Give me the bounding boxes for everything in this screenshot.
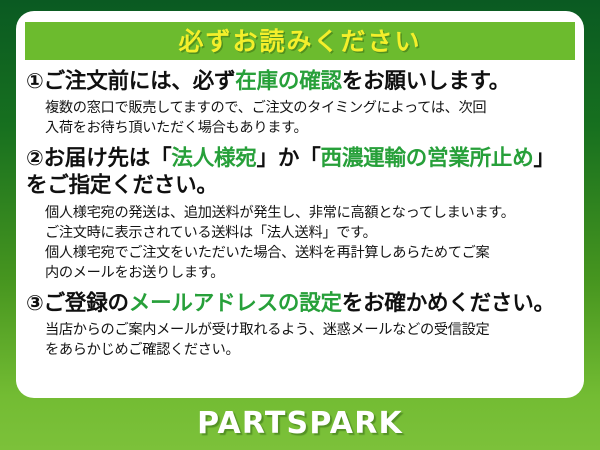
section-2-headline: ②お届け先は「法人様宛」か「西濃運輸の営業所止め」をご指定ください。 — [26, 145, 576, 199]
section-2-body: 個人様宅宛の発送は、追加送料が発生し、非常に高額となってしまいます。 ご注文時に… — [26, 203, 576, 284]
notice-card: 必ずお読みください ①ご注文前には、必ず在庫の確認をお願いします。 複数の窓口で… — [16, 11, 584, 398]
notice-title-bar: 必ずお読みください — [25, 22, 575, 60]
section-1-highlight: 在庫の確認 — [235, 69, 342, 94]
section-2-highlight-1: 法人様宛 — [171, 146, 256, 171]
section-3-headline-part-1: ご登録の — [44, 291, 129, 316]
section-2-body-line-4: 内のメールをお送りします。 — [45, 263, 576, 283]
section-1-number: ① — [26, 69, 44, 93]
notice-banner: 必ずお読みください ①ご注文前には、必ず在庫の確認をお願いします。 複数の窓口で… — [0, 0, 600, 450]
section-1-body-line-2: 入荷をお待ち頂いただく場合もあります。 — [45, 118, 576, 138]
section-2-headline-part-1: お届け先は「 — [44, 146, 172, 171]
section-2-headline-part-5: 」 — [534, 146, 555, 171]
section-1-headline: ①ご注文前には、必ず在庫の確認をお願いします。 — [26, 68, 576, 95]
notice-content: ①ご注文前には、必ず在庫の確認をお願いします。 複数の窓口で販売してますので、ご… — [16, 68, 584, 361]
section-3-headline-part-3: をお確かめください。 — [342, 291, 555, 316]
notice-section-3: ③ご登録のメールアドレスの設定をお確かめください。 当店からのご案内メールが受け… — [16, 290, 584, 360]
section-1-headline-part-3: をお願いします。 — [342, 69, 510, 94]
section-2-body-line-1: 個人様宅宛の発送は、追加送料が発生し、非常に高額となってしまいます。 — [45, 203, 576, 223]
section-3-body-line-2: をあらかじめご確認ください。 — [45, 340, 576, 360]
section-3-body-line-1: 当店からのご案内メールが受け取れるよう、迷惑メールなどの受信設定 — [45, 320, 576, 340]
section-2-headline-part-6: をご指定ください。 — [26, 173, 218, 198]
section-1-body: 複数の窓口で販売してますので、ご注文のタイミングによっては、次回 入荷をお待ち頂… — [26, 98, 576, 138]
section-2-highlight-2: 西濃運輸の営業所止め — [321, 146, 534, 171]
section-3-body: 当店からのご案内メールが受け取れるよう、迷惑メールなどの受信設定 をあらかじめご… — [26, 320, 576, 360]
section-2-number: ② — [26, 146, 44, 170]
section-2-body-line-3: 個人様宅宛でご注文をいただいた場合、送料を再計算しあらためてご案 — [45, 243, 576, 263]
notice-title: 必ずお読みください — [178, 29, 421, 54]
section-2-headline-part-3: 」か「 — [257, 146, 321, 171]
section-3-highlight: メールアドレスの設定 — [129, 291, 342, 316]
section-2-body-line-2: ご注文時に表示されている送料は「法人送料」です。 — [45, 223, 576, 243]
brand-footer: PARTSPARK — [0, 398, 600, 450]
notice-section-1: ①ご注文前には、必ず在庫の確認をお願いします。 複数の窓口で販売してますので、ご… — [16, 68, 584, 138]
section-1-body-line-1: 複数の窓口で販売してますので、ご注文のタイミングによっては、次回 — [45, 98, 576, 118]
section-3-number: ③ — [26, 291, 44, 315]
notice-section-2: ②お届け先は「法人様宛」か「西濃運輸の営業所止め」をご指定ください。 個人様宅宛… — [16, 145, 584, 283]
brand-name: PARTSPARK — [197, 409, 403, 439]
section-1-headline-part-1: ご注文前には、必ず — [44, 69, 236, 94]
section-3-headline: ③ご登録のメールアドレスの設定をお確かめください。 — [26, 290, 576, 317]
